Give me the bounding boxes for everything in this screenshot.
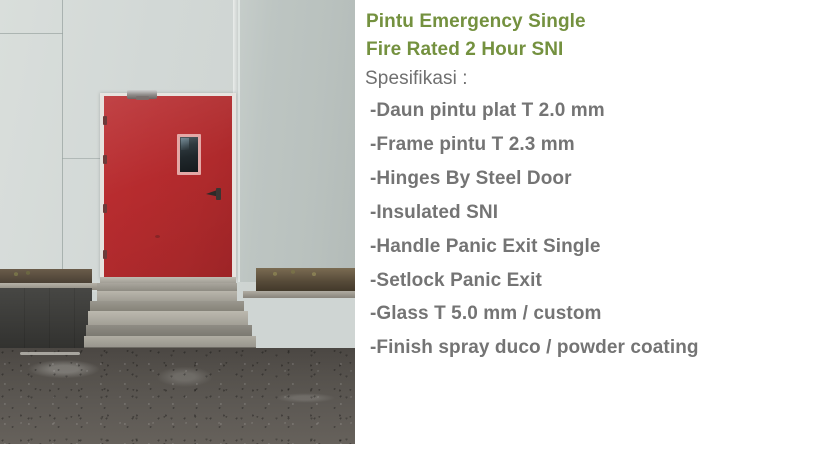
door-hinge-icon <box>103 155 107 164</box>
product-spec-card: Pintu Emergency Single Fire Rated 2 Hour… <box>0 0 840 450</box>
spec-item: -Insulated SNI <box>361 196 840 230</box>
grass-tufts-right <box>266 269 326 277</box>
specification-panel: Pintu Emergency Single Fire Rated 2 Hour… <box>355 0 840 450</box>
vision-panel-glare <box>181 138 189 150</box>
door-handle-rose <box>216 188 221 200</box>
door-surface-mark <box>155 235 160 238</box>
step-tread-top <box>97 291 237 301</box>
step-tread-middle <box>88 311 248 325</box>
door-closer-arm-icon <box>136 96 149 100</box>
step-riser-middle <box>90 301 244 311</box>
ground-debris <box>20 352 80 355</box>
grass-tufts-left <box>10 270 40 277</box>
column-edge-highlight <box>238 0 240 282</box>
door-sheen-overlay <box>104 96 232 279</box>
product-title-line-1: Pintu Emergency Single <box>361 8 840 36</box>
wall-joint-horizontal-upper <box>0 33 63 34</box>
step-riser-bottom <box>86 325 252 336</box>
door-hinge-icon <box>103 116 107 125</box>
spec-item: -Setlock Panic Exit <box>361 264 840 298</box>
specification-list: -Daun pintu plat T 2.0 mm -Frame pintu T… <box>361 94 840 365</box>
door-hinge-icon <box>103 250 107 259</box>
spec-item: -Daun pintu plat T 2.0 mm <box>361 94 840 128</box>
product-photo <box>0 0 355 444</box>
door-hinge-icon <box>103 204 107 213</box>
stone-clad-wall-left <box>0 288 92 348</box>
spec-item: -Finish spray duco / powder coating <box>361 331 840 365</box>
spec-item: -Frame pintu T 2.3 mm <box>361 128 840 162</box>
spec-item: -Glass T 5.0 mm / custom <box>361 297 840 331</box>
specification-heading: Spesifikasi : <box>361 63 840 94</box>
asphalt-texture <box>0 348 355 444</box>
wall-joint-horizontal-lower <box>62 158 104 159</box>
product-title-line-2: Fire Rated 2 Hour SNI <box>361 36 840 64</box>
spec-item: -Hinges By Steel Door <box>361 162 840 196</box>
stone-clad-wall-right <box>245 296 355 356</box>
step-riser-top <box>97 283 237 291</box>
wall-joint-vertical <box>62 0 63 292</box>
photo-scene <box>0 0 355 444</box>
building-column <box>238 0 355 282</box>
spec-item: -Handle Panic Exit Single <box>361 230 840 264</box>
